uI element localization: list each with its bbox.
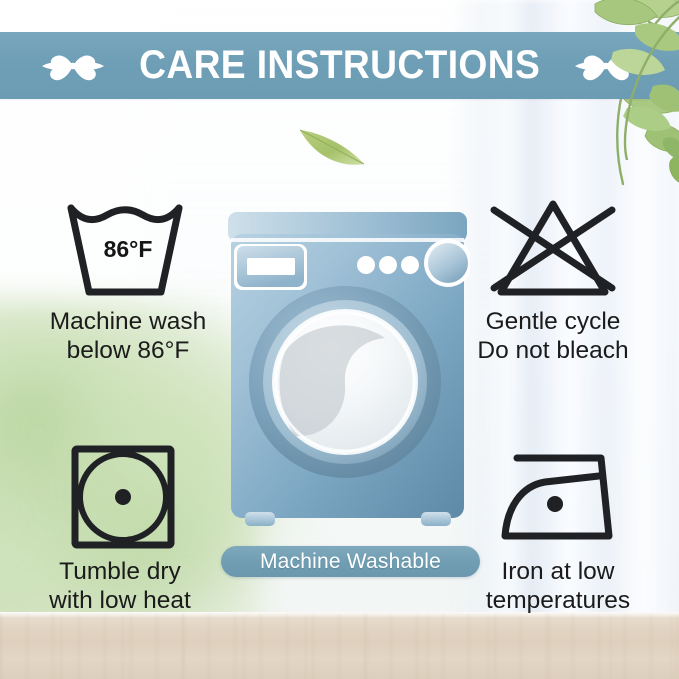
iron-low-temperature-icon	[483, 442, 633, 552]
washing-machine-illustration	[225, 212, 470, 532]
care-caption-machine-wash: Machine wash below 86°F	[50, 308, 207, 366]
care-caption-tumble-dry: Tumble dry with low heat	[49, 558, 191, 616]
machine-washable-badge: Machine Washable	[221, 546, 480, 577]
care-item-tumble-dry: Tumble dry with low heat	[10, 442, 230, 616]
badge-label: Machine Washable	[260, 551, 441, 572]
wash-tub-icon: 86°F	[53, 192, 203, 302]
fleur-de-lis-left-icon	[40, 44, 106, 88]
care-caption-gentle-cycle-no-bleach: Gentle cycle Do not bleach	[477, 308, 628, 366]
care-item-iron-low: Iron at low temperatures	[448, 442, 668, 616]
floating-leaf-icon	[296, 122, 368, 170]
page-title: CARE INSTRUCTIONS	[139, 45, 540, 87]
wash-temperature-value: 86°F	[53, 236, 203, 263]
care-caption-iron-low: Iron at low temperatures	[486, 558, 630, 616]
background-wood-grain	[0, 614, 679, 679]
fleur-de-lis-right-icon	[573, 44, 639, 88]
care-instructions-image: CARE INSTRUCTIONS	[0, 0, 679, 679]
care-item-machine-wash: 86°F Machine wash below 86°F	[18, 192, 238, 366]
triangle-crossed-no-bleach-icon	[478, 192, 628, 302]
tumble-dry-low-heat-icon	[45, 442, 195, 552]
care-item-gentle-cycle-no-bleach: Gentle cycle Do not bleach	[443, 192, 663, 366]
header-banner: CARE INSTRUCTIONS	[0, 32, 679, 99]
